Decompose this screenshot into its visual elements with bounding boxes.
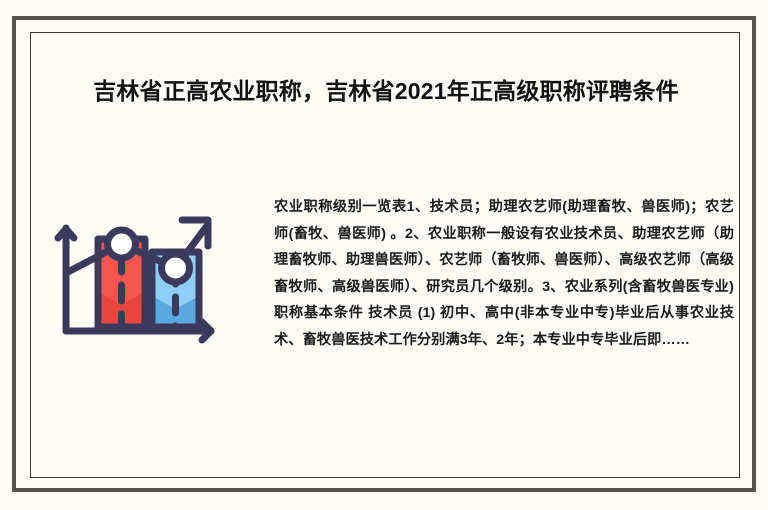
article-body-area: 农业职称级别一览表1、技术员；助理农艺师(助理畜牧、兽医师)；农艺师(畜牧、兽医… <box>30 192 740 452</box>
card-content: 吉林省正高农业职称，吉林省2021年正高级职称评聘条件 <box>30 32 740 478</box>
article-card-page: 吉林省正高农业职称，吉林省2021年正高级职称评聘条件 <box>0 0 768 510</box>
article-body-text: 农业职称级别一览表1、技术员；助理农艺师(助理畜牧、兽医师)；农艺师(畜牧、兽医… <box>274 194 734 353</box>
bar-chart-growth-icon <box>48 200 223 345</box>
page-title: 吉林省正高农业职称，吉林省2021年正高级职称评聘条件 <box>62 74 710 108</box>
